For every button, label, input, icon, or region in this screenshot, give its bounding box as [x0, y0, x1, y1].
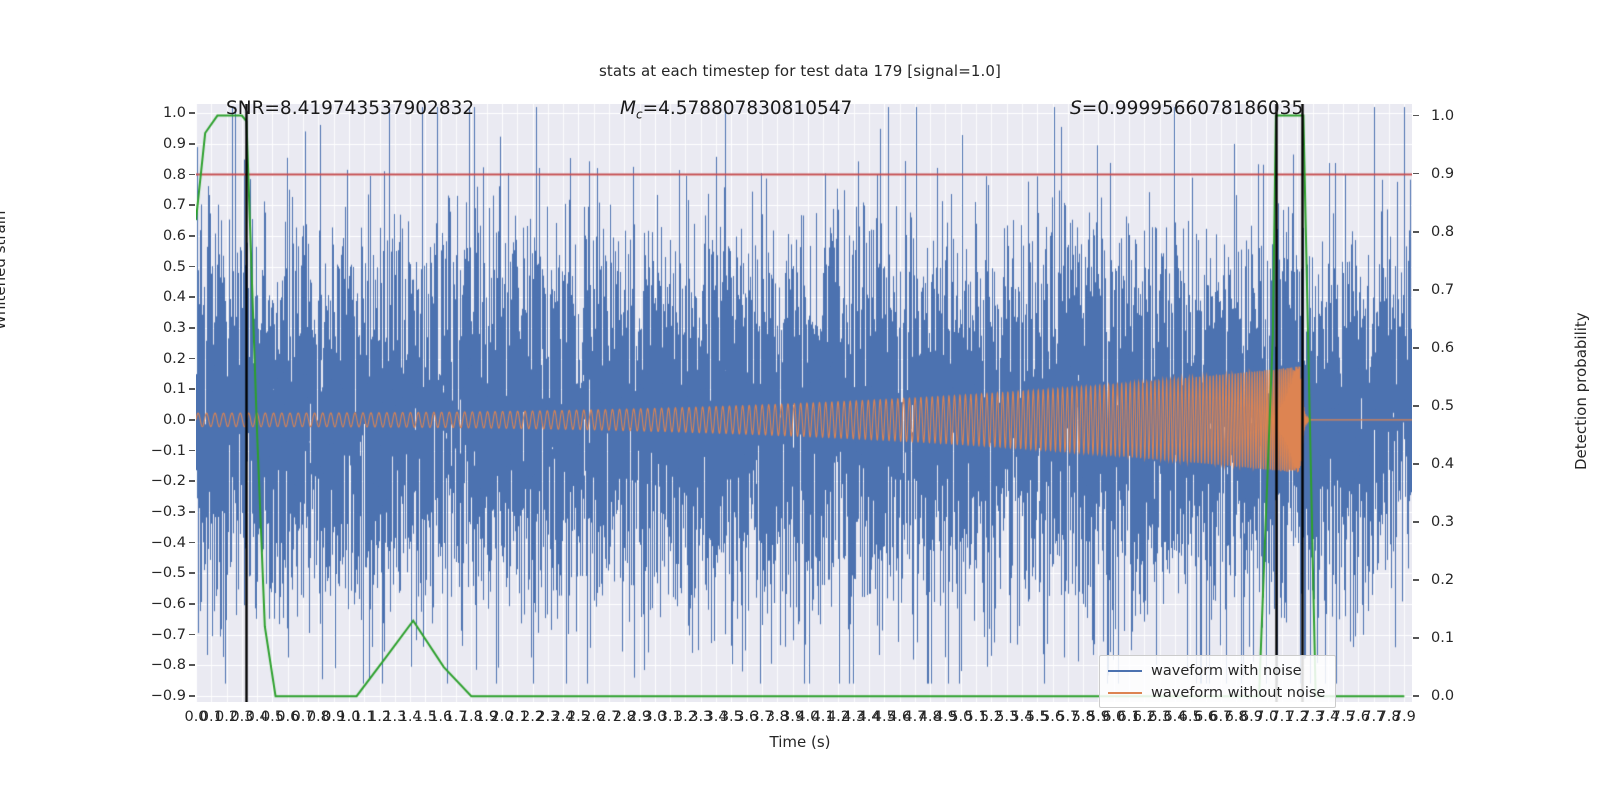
axis-tick-mark [1413, 463, 1419, 465]
y-tick-left-18: −0.8 [128, 657, 186, 673]
axis-tick-mark [189, 664, 195, 666]
axis-tick-mark [189, 327, 195, 329]
y-tick-left-13: −0.3 [128, 504, 186, 520]
axis-tick-mark [189, 174, 195, 176]
legend[interactable]: waveform with noise waveform without noi… [1099, 655, 1336, 708]
y-tick-right-0: 1.0 [1431, 108, 1489, 124]
axis-tick-mark [1413, 521, 1419, 523]
axis-tick-mark [189, 358, 195, 360]
axis-tick-mark [189, 112, 195, 114]
legend-label-noise: waveform with noise [1151, 663, 1302, 679]
y-tick-right-5: 0.5 [1431, 398, 1489, 414]
y-tick-left-14: −0.4 [128, 535, 186, 551]
axis-tick-mark [189, 388, 195, 390]
y-tick-left-17: −0.7 [128, 627, 186, 643]
plot-area [196, 104, 1412, 702]
annotation-significance: S=0.9999566078186035 [1070, 98, 1303, 119]
y-tick-right-8: 0.2 [1431, 572, 1489, 588]
axis-tick-mark [1413, 637, 1419, 639]
y-tick-left-0: 1.0 [128, 105, 186, 121]
axis-tick-mark [189, 450, 195, 452]
legend-item-waveform-without-noise[interactable]: waveform without noise [1108, 684, 1325, 701]
axis-tick-mark [189, 480, 195, 482]
axis-tick-mark [189, 572, 195, 574]
legend-item-waveform-with-noise[interactable]: waveform with noise [1108, 662, 1325, 679]
y-tick-left-3: 0.7 [128, 197, 186, 213]
y-tick-right-9: 0.1 [1431, 630, 1489, 646]
y-tick-left-19: −0.9 [128, 688, 186, 704]
y-tick-right-7: 0.3 [1431, 514, 1489, 530]
legend-label-signal: waveform without noise [1151, 685, 1325, 701]
y-tick-left-2: 0.8 [128, 167, 186, 183]
figure-canvas: stats at each timestep for test data 179… [0, 0, 1600, 800]
axis-tick-mark [189, 235, 195, 237]
axis-tick-mark [1413, 347, 1419, 349]
page-title: stats at each timestep for test data 179… [0, 62, 1600, 80]
y-tick-right-1: 0.9 [1431, 166, 1489, 182]
y-tick-left-6: 0.4 [128, 289, 186, 305]
axis-tick-mark [1413, 289, 1419, 291]
axis-tick-mark [189, 511, 195, 513]
y-tick-left-12: −0.2 [128, 473, 186, 489]
x-axis-label: Time (s) [0, 733, 1600, 751]
axis-tick-mark [189, 266, 195, 268]
axis-tick-mark [189, 296, 195, 298]
axis-tick-mark [189, 143, 195, 145]
axis-tick-mark [189, 419, 195, 421]
axis-tick-mark [1413, 405, 1419, 407]
annotation-snr: SNR=8.419743537902832 [226, 98, 474, 119]
x-tick-79: 7.9 [1393, 709, 1416, 725]
axis-tick-mark [189, 695, 195, 697]
y-tick-left-15: −0.5 [128, 565, 186, 581]
annotation-significance-symbol: S [1070, 98, 1082, 119]
y-tick-left-16: −0.6 [128, 596, 186, 612]
y-tick-left-4: 0.6 [128, 228, 186, 244]
annotation-chirp-mass-symbol: M [620, 98, 636, 119]
y-tick-right-6: 0.4 [1431, 456, 1489, 472]
annotation-chirp-mass: Mc=4.578807830810547 [620, 98, 852, 122]
annotation-chirp-mass-value: =4.578807830810547 [643, 98, 853, 119]
axis-tick-mark [1413, 579, 1419, 581]
axis-tick-mark [189, 603, 195, 605]
y-tick-left-1: 0.9 [128, 136, 186, 152]
y-tick-left-11: −0.1 [128, 443, 186, 459]
y-tick-left-9: 0.1 [128, 381, 186, 397]
y-tick-left-8: 0.2 [128, 351, 186, 367]
legend-swatch-noise [1108, 670, 1142, 672]
plot-render-surface [196, 104, 1412, 702]
y-tick-left-7: 0.3 [128, 320, 186, 336]
legend-swatch-signal [1108, 692, 1142, 694]
y-tick-right-2: 0.8 [1431, 224, 1489, 240]
axis-tick-mark [1413, 115, 1419, 117]
y-axis-right-label: Detection probability [1572, 312, 1590, 470]
y-axis-left-label: Whitened strain [0, 211, 9, 330]
axis-tick-mark [189, 542, 195, 544]
y-tick-right-3: 0.7 [1431, 282, 1489, 298]
axis-tick-mark [189, 204, 195, 206]
axis-tick-mark [1413, 695, 1419, 697]
axis-tick-mark [1413, 231, 1419, 233]
y-tick-right-10: 0.0 [1431, 688, 1489, 704]
y-tick-right-4: 0.6 [1431, 340, 1489, 356]
annotation-significance-value: =0.9999566078186035 [1082, 98, 1303, 119]
y-tick-left-10: 0.0 [128, 412, 186, 428]
annotation-chirp-mass-subscript: c [636, 108, 643, 122]
axis-tick-mark [189, 634, 195, 636]
y-tick-left-5: 0.5 [128, 259, 186, 275]
axis-tick-mark [1413, 173, 1419, 175]
